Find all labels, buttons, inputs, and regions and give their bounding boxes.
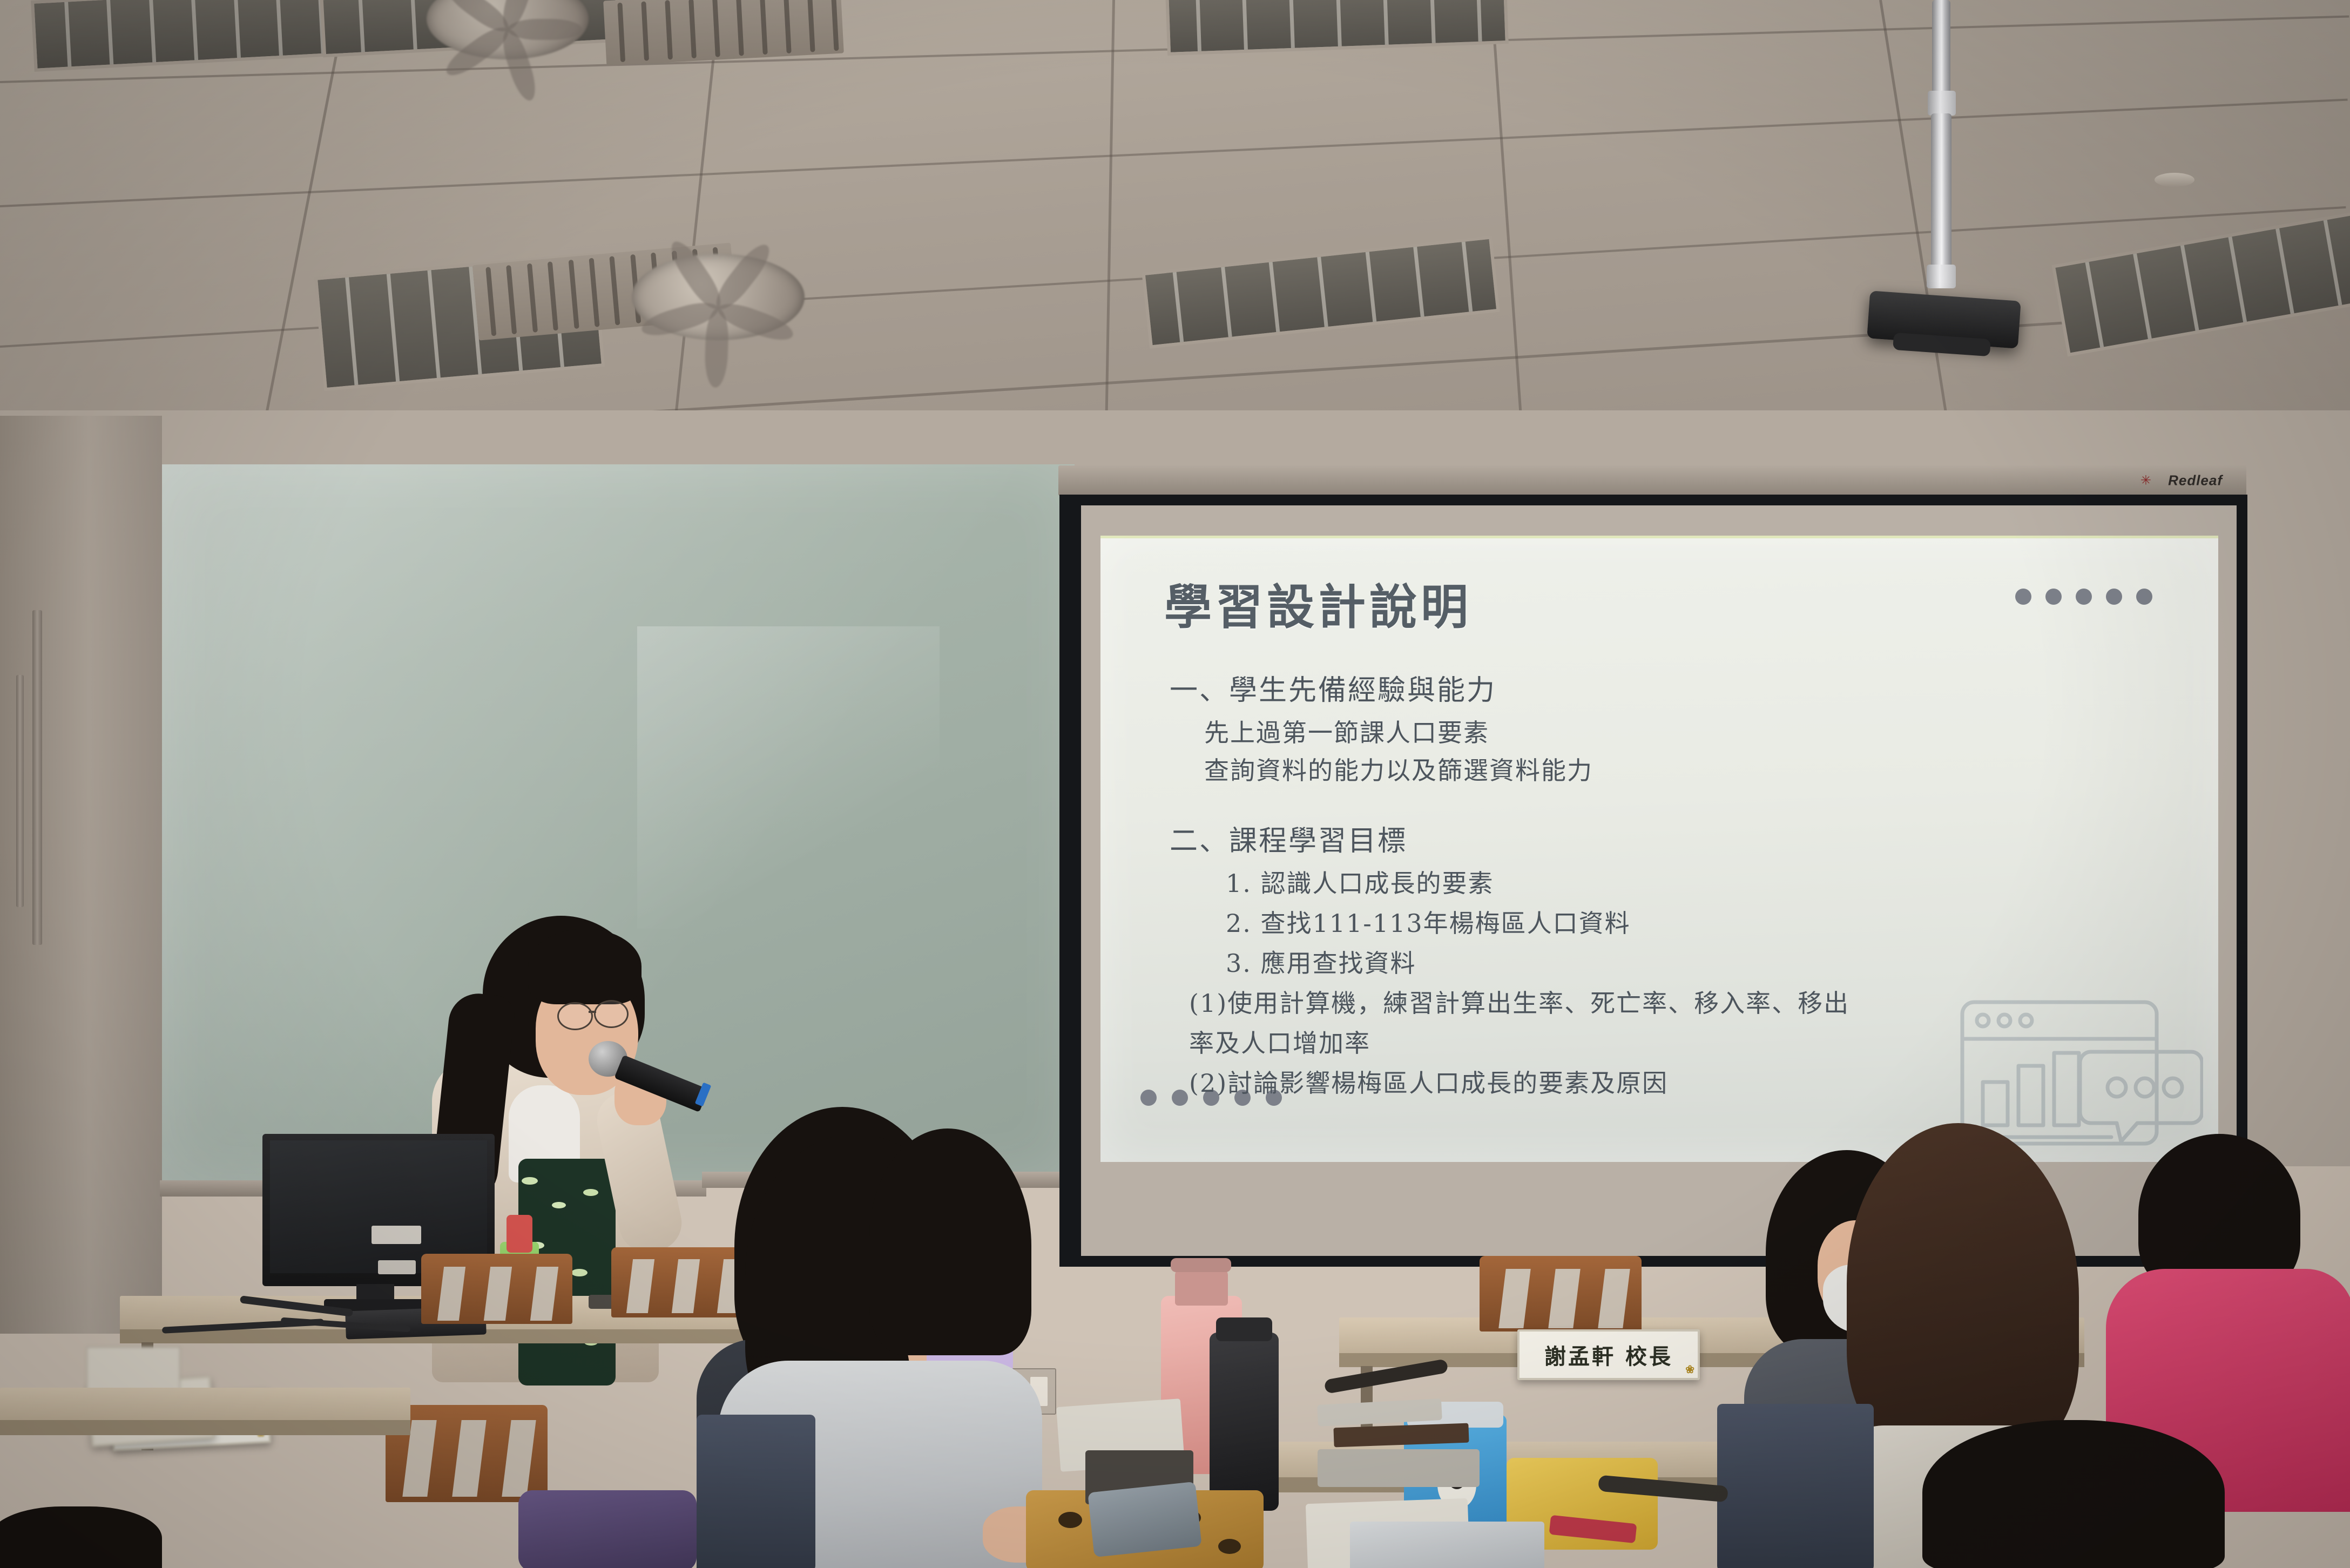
monitor-sticker (372, 1226, 421, 1244)
red-bottle-cap (507, 1215, 532, 1253)
placard-right: 謝孟軒 校長 ❀ (1517, 1329, 1700, 1380)
wall-left-column (0, 416, 162, 1334)
projector-pole-collar (1927, 265, 1956, 288)
slide-section-1-line-2: 查詢資料的能力以及篩選資料能力 (1170, 751, 2142, 787)
decor-dot (2106, 589, 2122, 605)
pink-bottle-handle (1171, 1258, 1231, 1272)
attendee-hair (0, 1506, 162, 1568)
projector-mount-pole (1932, 0, 1950, 97)
slide-section-1-line-1: 先上過第一節課人口要素 (1170, 713, 2142, 749)
wooden-chair-back[interactable] (421, 1254, 572, 1324)
pink-bottle-cap (1175, 1268, 1228, 1306)
redleaf-brand-label: Redleaf (2168, 472, 2223, 489)
laptop[interactable] (1350, 1522, 1544, 1568)
projector-mount-pole (1931, 113, 1951, 270)
front-desk-left (0, 1388, 410, 1422)
classroom-photo-scene: ✳ Redleaf 學習設計說明 一、學生先備經驗與能力 先上過第一節課人口要素 (0, 0, 2350, 1568)
placard-leaf-decor: ❀ (1685, 1363, 1694, 1376)
slide-section-1-heading: 一、學生先備經驗與能力 (1170, 667, 2142, 708)
projector-pole-collar (1928, 91, 1956, 116)
grey-box (1318, 1449, 1480, 1487)
blue-chair[interactable] (1717, 1404, 1874, 1568)
smartphone[interactable] (1088, 1482, 1201, 1557)
attendee-hair (1922, 1420, 2225, 1568)
placard-right-text: 謝孟軒 校長 (1544, 1339, 1673, 1370)
purple-bag (518, 1490, 697, 1568)
wooden-chair-back[interactable] (1480, 1256, 1642, 1332)
smoke-detector (2155, 173, 2194, 187)
black-tumbler (1210, 1333, 1279, 1511)
attendee-hair (1847, 1123, 2079, 1458)
slide-objective-3: 3. 應用查找資料 (1170, 944, 2142, 979)
leopard-spot (1058, 1512, 1082, 1528)
slide-dots-top-right (2015, 589, 2152, 605)
board-glare (637, 626, 940, 929)
slide-section-2-heading: 二、課程學習目標 (1170, 818, 2142, 859)
attendee-bottom-right (1922, 1420, 2225, 1568)
blue-chair[interactable] (697, 1415, 815, 1568)
wall-conduit-pipe (32, 610, 42, 945)
leopard-spot (1218, 1539, 1241, 1554)
glasses-right-lens (594, 1000, 629, 1028)
glasses-bridge (589, 1011, 596, 1013)
wall-conduit-pipe (16, 675, 24, 907)
presentation-slide: 學習設計說明 一、學生先備經驗與能力 先上過第一節課人口要素 查詢資料的能力以及… (1100, 536, 2218, 1162)
slide-objective-1: 1. 認識人口成長的要素 (1170, 864, 2142, 900)
projection-screen-housing: ✳ Redleaf (1058, 465, 2246, 496)
presenter-fringe (528, 929, 641, 1004)
attendee-bottom-left (0, 1506, 162, 1568)
decor-dot (2136, 589, 2152, 605)
decor-dot (2076, 589, 2092, 605)
decor-dot (1140, 1090, 1157, 1106)
ceiling-fan (632, 254, 805, 340)
redleaf-brand-star: ✳ (2140, 473, 2151, 489)
slide-title: 學習設計說明 (1164, 569, 1472, 638)
attendee-fringe (869, 1128, 1031, 1355)
slide-top-accent-line (1100, 536, 2218, 538)
black-tumbler-lid (1216, 1317, 1272, 1341)
decor-dot (2045, 589, 2062, 605)
slide-objective-2: 2. 查找111-113年楊梅區人口資料 (1170, 904, 2142, 940)
front-desk-left-edge (0, 1420, 410, 1435)
decor-dot (2015, 589, 2031, 605)
glasses-left-lens (557, 1002, 593, 1030)
monitor-sticker (378, 1260, 416, 1274)
